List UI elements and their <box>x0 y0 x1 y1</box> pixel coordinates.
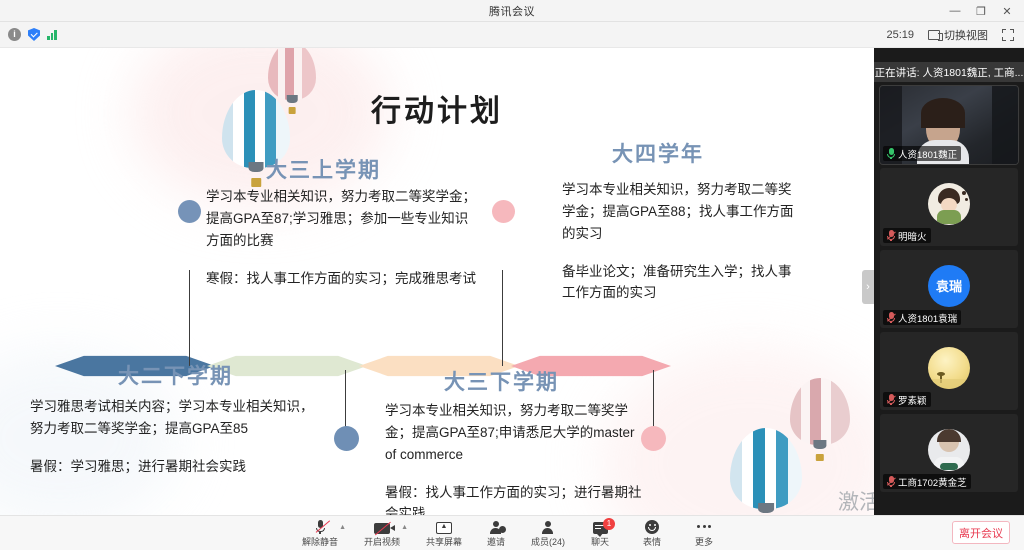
mic-off-icon-4 <box>887 394 895 405</box>
switch-view-label: 切换视图 <box>944 27 988 43</box>
section-body-3: 学习雅思考试相关内容；学习本专业相关知识，努力考取二等奖学金；提高GPA至85 … <box>30 396 320 478</box>
mic-muted-icon <box>316 519 325 534</box>
section-2-paragraph-1: 学习本专业相关知识，努力考取二等奖学金；提高GPA至88；找人事工作方面的实习 <box>562 179 794 245</box>
speaking-banner: 正在讲话: 人资1801魏正, 工商... <box>874 62 1024 82</box>
marker-line-1 <box>189 270 190 366</box>
emoji-icon <box>645 519 659 534</box>
participant-avatar-initials-3: 袁瑞 <box>936 276 962 295</box>
participant-avatar-3: 袁瑞 <box>928 265 970 307</box>
collapse-panel-arrow[interactable]: › <box>862 270 874 304</box>
chat-unread-badge: 1 <box>603 518 615 530</box>
participant-tile-5[interactable]: 工商1702黄金芝 <box>880 414 1018 492</box>
participant-tile-4[interactable]: 罗素颖 <box>880 332 1018 410</box>
section-3-paragraph-1: 学习雅思考试相关内容；学习本专业相关知识，努力考取二等奖学金；提高GPA至85 <box>30 396 320 440</box>
slide-title: 行动计划 <box>0 86 874 130</box>
unmute-button[interactable]: 解除静音 ▲ <box>294 516 346 550</box>
participant-name-1: 人资1801魏正 <box>883 146 961 161</box>
emoji-label: 表情 <box>643 535 661 548</box>
start-video-label: 开启视频 <box>364 535 400 548</box>
participant-avatar-2 <box>928 183 970 225</box>
section-4-paragraph-2: 暑假：找人事工作方面的实习；进行暑期社会实践 <box>385 482 647 515</box>
share-screen-label: 共享屏幕 <box>426 535 462 548</box>
signal-icon[interactable] <box>47 29 57 40</box>
marker-dot-1 <box>178 200 201 223</box>
invite-label: 邀请 <box>487 535 505 548</box>
section-heading-1: 大三上学期 <box>266 154 381 184</box>
members-icon <box>541 519 556 534</box>
participant-name-3: 人资1801袁瑞 <box>883 310 961 325</box>
participant-label-2: 明暗火 <box>898 229 927 243</box>
info-icon[interactable]: i <box>8 28 21 41</box>
invite-button[interactable]: 邀请 <box>470 516 522 550</box>
participant-avatar-4 <box>928 347 970 389</box>
section-1-paragraph-1: 学习本专业相关知识，努力考取二等奖学金；提高GPA至87;学习雅思；参加一些专业… <box>206 186 478 252</box>
section-body-4: 学习本专业相关知识，努力考取二等奖学金；提高GPA至87;申请悉尼大学的mast… <box>385 400 647 515</box>
camera-off-icon <box>374 519 390 534</box>
marker-line-4 <box>653 370 654 430</box>
participant-name-4: 罗素颖 <box>883 392 931 407</box>
meeting-info-right: 25:19 切换视图 <box>886 27 1024 43</box>
section-heading-4: 大三下学期 <box>444 366 559 396</box>
participant-label-1: 人资1801魏正 <box>898 147 957 161</box>
start-video-button[interactable]: 开启视频 ▲ <box>356 516 408 550</box>
section-body-2: 学习本专业相关知识，努力考取二等奖学金；提高GPA至88；找人事工作方面的实习 … <box>562 179 794 304</box>
section-heading-2: 大四学年 <box>612 138 704 168</box>
participant-name-2: 明暗火 <box>883 228 931 243</box>
participant-avatar-5 <box>928 429 970 471</box>
participant-rail: 正在讲话: 人资1801魏正, 工商... 人资1801魏正 <box>874 48 1024 515</box>
section-4-paragraph-1: 学习本专业相关知识，努力考取二等奖学金；提高GPA至87;申请悉尼大学的mast… <box>385 400 647 466</box>
balloon-bottom-blue <box>730 428 802 515</box>
shield-icon[interactable] <box>28 28 40 41</box>
meeting-timer: 25:19 <box>886 29 914 41</box>
video-options-caret[interactable]: ▲ <box>401 524 408 531</box>
mic-off-icon-2 <box>887 230 895 241</box>
meeting-info-bar: i 25:19 切换视图 <box>0 22 1024 48</box>
presentation-slide: 行动计划 大三上学期 学习本专业相关知识，努力考取二等奖学金；提高GPA至87;… <box>0 48 874 515</box>
section-1-paragraph-2: 寒假：找人事工作方面的实习；完成雅思考试 <box>206 268 478 290</box>
participant-tile-1[interactable]: 人资1801魏正 <box>880 86 1018 164</box>
participant-label-5: 工商1702黄金芝 <box>898 475 967 489</box>
tencent-meeting-window: 腾讯会议 — ❐ ✕ i 25:19 切换视图 <box>0 0 1024 550</box>
share-screen-button[interactable]: 共享屏幕 <box>418 516 470 550</box>
participant-tile-3[interactable]: 袁瑞 人资1801袁瑞 <box>880 250 1018 328</box>
meeting-toolbar: 解除静音 ▲ 开启视频 ▲ 共享屏幕 邀请 成员(24) <box>0 515 1024 550</box>
switch-view-icon <box>928 30 940 40</box>
leave-meeting-button[interactable]: 离开会议 <box>952 521 1010 544</box>
chat-button[interactable]: 聊天 1 <box>574 516 626 550</box>
section-3-paragraph-2: 暑假：学习雅思；进行暑期社会实践 <box>30 456 320 478</box>
marker-line-2 <box>502 270 503 366</box>
meeting-status-icons: i <box>0 28 57 41</box>
window-titlebar: 腾讯会议 — ❐ ✕ <box>0 0 1024 22</box>
unmute-label: 解除静音 <box>302 535 338 548</box>
window-controls: — ❐ ✕ <box>942 0 1020 22</box>
mic-off-icon-3 <box>887 312 895 323</box>
switch-view-button[interactable]: 切换视图 <box>928 27 988 43</box>
mic-options-caret[interactable]: ▲ <box>339 524 346 531</box>
minimize-icon[interactable]: — <box>942 0 968 22</box>
maximize-icon[interactable]: ❐ <box>968 0 994 22</box>
shared-screen-stage[interactable]: 行动计划 大三上学期 学习本专业相关知识，努力考取二等奖学金；提高GPA至87;… <box>0 48 874 515</box>
window-title: 腾讯会议 <box>489 3 535 19</box>
emoji-button[interactable]: 表情 <box>626 516 678 550</box>
members-button[interactable]: 成员(24) <box>522 516 574 550</box>
participant-label-3: 人资1801袁瑞 <box>898 311 957 325</box>
marker-dot-3 <box>334 426 359 451</box>
participant-name-5: 工商1702黄金芝 <box>883 474 971 489</box>
invite-icon <box>489 519 504 534</box>
more-icon <box>697 519 711 534</box>
participant-tile-2[interactable]: 明暗火 <box>880 168 1018 246</box>
marker-dot-2 <box>492 200 515 223</box>
participant-label-4: 罗素颖 <box>898 393 927 407</box>
section-body-1: 学习本专业相关知识，努力考取二等奖学金；提高GPA至87;学习雅思；参加一些专业… <box>206 186 478 289</box>
section-2-paragraph-2: 备毕业论文；准备研究生入学；找人事工作方面的实习 <box>562 261 794 305</box>
mic-on-icon-1 <box>887 148 895 159</box>
more-label: 更多 <box>695 535 713 548</box>
more-button[interactable]: 更多 <box>678 516 730 550</box>
fullscreen-icon[interactable] <box>1002 29 1014 41</box>
members-label: 成员(24) <box>531 535 565 548</box>
section-heading-3: 大二下学期 <box>118 360 233 390</box>
mic-off-icon-5 <box>887 476 895 487</box>
marker-line-3 <box>345 370 346 430</box>
close-icon[interactable]: ✕ <box>994 0 1020 22</box>
share-screen-icon <box>436 519 452 534</box>
